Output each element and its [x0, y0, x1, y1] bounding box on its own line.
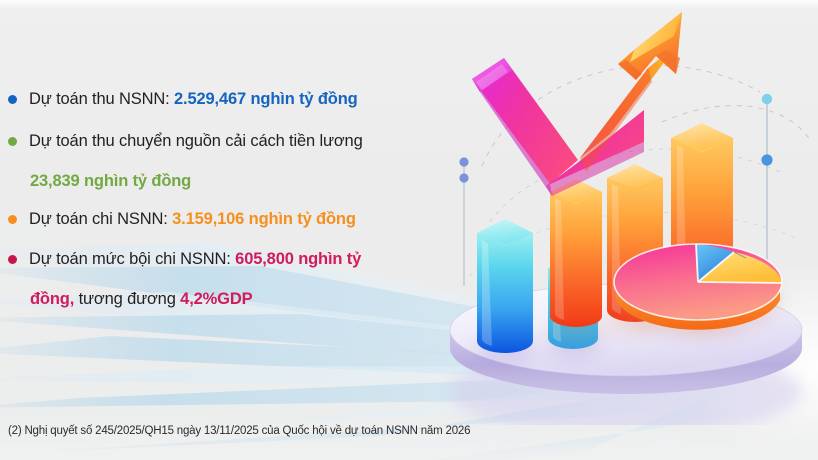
bar-3	[548, 179, 604, 342]
bullet-value-3: 3.159,106 nghìn tỷ đồng	[172, 210, 356, 228]
bullet-list: Dự toán thu NSNN: 2.529,467 nghìn tỷ đồn…	[0, 0, 470, 340]
bullet-row-2: Dự toán thu chuyển nguồn cải cách tiền l…	[8, 130, 363, 152]
infographic-stage: Dự toán thu NSNN: 2.529,467 nghìn tỷ đồn…	[0, 0, 818, 460]
marker-right	[761, 94, 772, 262]
bullet-row-1: Dự toán thu NSNN: 2.529,467 nghìn tỷ đồn…	[8, 88, 358, 110]
bullet-dot-3	[8, 215, 17, 224]
bullet-value-1: 2.529,467 nghìn tỷ đồng	[174, 90, 358, 108]
bar-1	[475, 219, 535, 365]
bullet-row-4: Dự toán mức bội chi NSNN: 605,800 nghìn …	[8, 248, 361, 270]
bullet-cont-regular: tương đương	[74, 290, 180, 308]
marker-dot-right-lower	[761, 154, 772, 165]
bullet-row-3: Dự toán chi NSNN: 3.159,106 nghìn tỷ đồn…	[8, 208, 356, 230]
footnote: (2) Nghị quyết số 245/2025/QH15 ngày 13/…	[8, 425, 470, 437]
bullet-label-3: Dự toán chi NSNN:	[29, 210, 172, 228]
bullet-cont-bold-2: 4,2%GDP	[180, 290, 252, 308]
marker-dot-right-upper	[762, 94, 772, 104]
bullet-dot-2	[8, 137, 17, 146]
bullet-dot-1	[8, 95, 17, 104]
bullet-text-1: Dự toán thu NSNN: 2.529,467 nghìn tỷ đồn…	[29, 88, 358, 110]
bullet-text-4: Dự toán mức bội chi NSNN: 605,800 nghìn …	[29, 248, 361, 270]
bullet-dot-4	[8, 255, 17, 264]
bullet-value-4-continuation: đồng, tương đương 4,2%GDP	[30, 288, 253, 310]
bullet-cont-bold-1: đồng,	[30, 290, 74, 308]
illustration-3d-growth-chart	[430, 0, 818, 425]
bullet-label-2: Dự toán thu chuyển nguồn cải cách tiền l…	[29, 130, 363, 152]
bullet-value-2: 23,839 nghìn tỷ đồng	[30, 170, 191, 192]
bullet-label-4: Dự toán mức bội chi NSNN:	[29, 250, 235, 268]
bullet-text-3: Dự toán chi NSNN: 3.159,106 nghìn tỷ đồn…	[29, 208, 356, 230]
zigzag-growth-arrow	[472, 12, 682, 196]
bullet-value-4: 605,800 nghìn tỷ	[235, 250, 361, 268]
pie-chart	[614, 244, 782, 338]
bullet-label-1: Dự toán thu NSNN:	[29, 90, 174, 108]
